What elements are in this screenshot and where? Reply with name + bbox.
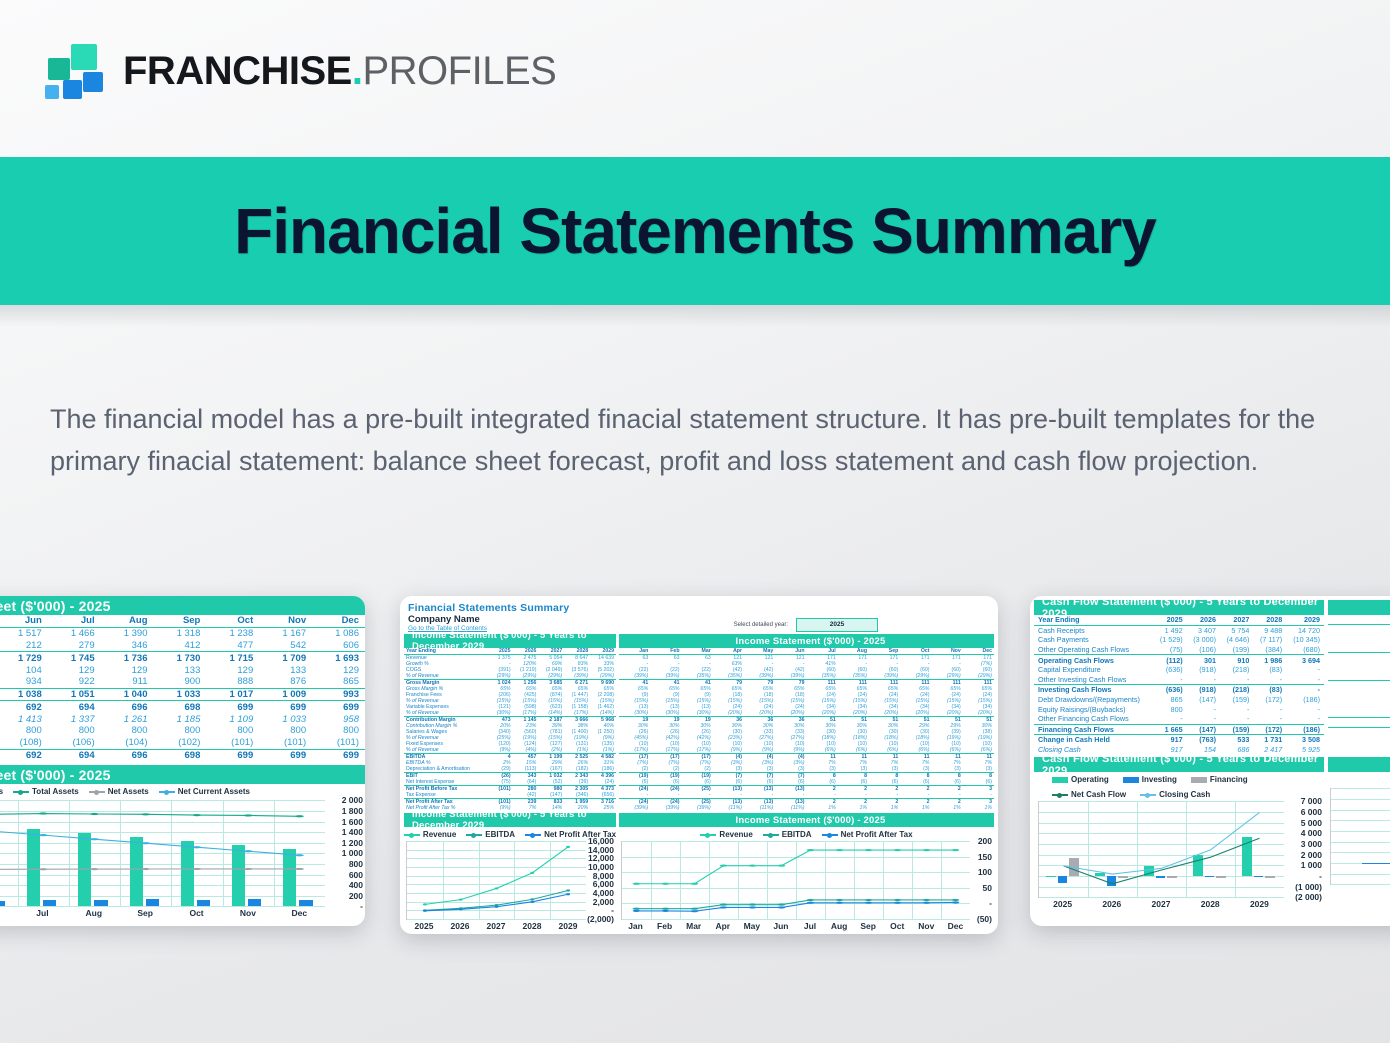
is-month-value: 1% <box>869 805 900 811</box>
bs-value: 279 <box>48 640 101 652</box>
cf-year-value: 3 407 <box>1187 625 1220 635</box>
legend-swatch-icon <box>1191 777 1207 783</box>
chart-marker <box>749 865 757 867</box>
chart-marker <box>720 865 728 867</box>
cf-year-value: - <box>1187 675 1220 685</box>
banner-shadow <box>0 305 1390 327</box>
legend-label: Net Cash Flow <box>1071 790 1126 799</box>
is-5yr-table-title: Income Statement ($'000) - 5 Years to De… <box>404 634 616 648</box>
chart-marker <box>633 910 641 912</box>
is-month-value: (39%) <box>650 805 681 811</box>
balance-sheet-screenshot[interactable]: Balance Sheet ($'000) - 2025 May Jun Jul… <box>0 596 365 926</box>
x-axis-tick: 2025 <box>1038 899 1087 909</box>
row-label: Other Operating Cash Flows <box>1034 645 1153 655</box>
table-row: 101104129129133129133129 <box>0 664 365 676</box>
balance-sheet-chart: 2 0001 8001 6001 4001 2001 0008006004002… <box>0 800 365 926</box>
chart-marker <box>141 868 150 870</box>
bs-value: 1 390 <box>101 627 154 639</box>
legend-label: Revenue <box>423 830 456 839</box>
table-row: 703692694696698699699699 <box>0 749 365 761</box>
chart-marker <box>865 902 873 904</box>
is-2025-chart: 20015010050-(50)JanFebMarAprMayJunJulAug… <box>619 841 994 934</box>
is-5yr-chart: 16,00014,00012,00010,0008,0006,0004,0002… <box>404 841 616 934</box>
x-axis-tick: 2027 <box>478 921 514 931</box>
cf-year-value: - <box>1253 714 1286 724</box>
is-month-value: 1% <box>807 805 838 811</box>
cash-flow-screenshot[interactable]: Cash Flow Statement ($'000) - 5 Years to… <box>1030 596 1390 926</box>
cf-year-value: (83) <box>1253 665 1286 675</box>
bs-value: 1 261 <box>101 713 154 725</box>
chart-marker <box>807 902 815 904</box>
x-axis-tick: Dec <box>941 921 970 931</box>
y-axis-tick: 1 800 <box>323 806 363 816</box>
legend-swatch-icon <box>1123 777 1139 783</box>
bs-value: 800 <box>101 725 154 737</box>
year-selector[interactable]: Select detailed year: 2025 <box>734 618 878 632</box>
chart-lines <box>1331 788 1390 884</box>
cf-year-value: (1 529) <box>1153 635 1186 645</box>
cf-jan-value: - <box>1328 708 1390 718</box>
chart-line <box>637 902 956 911</box>
chart-lines <box>0 800 325 906</box>
bs-value: 1 709 <box>259 652 312 664</box>
y-axis-tick: 1 000 <box>1282 860 1322 870</box>
y-axis-tick: 200 <box>323 891 363 901</box>
y-axis-tick: 150 <box>968 852 992 862</box>
legend-swatch-icon <box>822 834 838 836</box>
legend-label: Closing Cash <box>1159 790 1210 799</box>
legend-item: Operating <box>1052 775 1109 784</box>
legend-item: EBITDA <box>763 830 812 839</box>
cf-year-value: 1 731 <box>1253 735 1286 745</box>
bs-value: 542 <box>259 640 312 652</box>
chart-marker <box>566 889 570 891</box>
legend-swatch-icon <box>1052 777 1068 783</box>
legend-swatch-icon <box>404 834 420 836</box>
y-axis-tick: (1 000) <box>1282 882 1322 892</box>
cf-table-title: Cash Flow Statement ($'000) - 5 Years to… <box>1034 600 1324 615</box>
table-row: (22) <box>1328 653 1390 663</box>
x-axis: JanFebMarAprMayJunJulAugSepOctNovDec <box>621 921 970 931</box>
x-axis-tick: Nov <box>912 921 941 931</box>
chart-marker <box>865 899 873 901</box>
x-axis-tick: Aug <box>825 921 854 931</box>
is-2025-table-title: Income Statement ($'000) - 2025 <box>619 634 994 648</box>
cf-year-value: - <box>1286 665 1324 675</box>
legend-label: EBITDA <box>782 830 812 839</box>
cf-year-value: (7 117) <box>1253 635 1286 645</box>
chart-marker <box>720 906 728 908</box>
row-label: Equity Raisings/(Buybacks) <box>1034 704 1153 714</box>
legend-item: EBITDA <box>466 830 515 839</box>
chart-marker <box>530 898 534 900</box>
x-axis-tick: Aug <box>68 908 119 918</box>
chart-marker <box>90 838 99 840</box>
cf-year-value: - <box>1153 675 1186 685</box>
x-axis-tick: 2025 <box>406 921 442 931</box>
x-axis-tick: Feb <box>650 921 679 931</box>
cf-year-value: (159) <box>1220 695 1253 705</box>
bs-value: 692 <box>0 749 48 761</box>
cash-flow-jan-table: Jan 32(47)(7)(22)(36)-(36)989800-1 7891 … <box>1328 615 1390 746</box>
chart-marker <box>923 899 931 901</box>
x-axis: MayJunJulAugSepOctNovDec <box>0 908 325 918</box>
cf-side-chart-title <box>1328 757 1390 772</box>
y-axis-tick: 100 <box>968 867 992 877</box>
cf-jan-value: (36) <box>1328 662 1390 671</box>
is-2025-chart-legend: RevenueEBITDANet Profit After Tax <box>619 827 994 841</box>
legend-item: Total Assets <box>13 787 79 796</box>
y-axis-tick: (2 000) <box>1282 892 1322 902</box>
legend-label: Financing <box>1210 775 1248 784</box>
cf-jan-value: (7) <box>1328 643 1390 653</box>
chart-marker <box>952 849 960 851</box>
year-selector-input[interactable]: 2025 <box>796 618 878 632</box>
y-axis-tick: 1 000 <box>323 848 363 858</box>
is-month-value: 1% <box>838 805 869 811</box>
x-axis-tick: May <box>737 921 766 931</box>
table-row: Operating Cash Flows(112)3019101 9863 69… <box>1034 655 1324 665</box>
x-axis-tick: Mar <box>679 921 708 931</box>
x-axis-tick: Jan <box>621 921 650 931</box>
cf-year-value: 800 <box>1153 704 1186 714</box>
table-row: 32 <box>1328 625 1390 635</box>
gridline <box>1039 897 1284 898</box>
x-axis-tick: Jul <box>795 921 824 931</box>
cf-year-value: (3 000) <box>1187 635 1220 645</box>
bs-value: 212 <box>0 640 48 652</box>
income-statement-screenshot[interactable]: Financial Statements Summary Company Nam… <box>400 596 998 934</box>
chart-marker <box>633 883 641 885</box>
bs-value: 699 <box>312 749 365 761</box>
cf-year-value: (636) <box>1153 685 1186 695</box>
description-paragraph: The financial model has a pre-built inte… <box>50 398 1340 482</box>
bs-value: (108) <box>0 737 48 749</box>
bs-value: 1 038 <box>0 688 48 701</box>
chart-marker <box>423 903 427 905</box>
bs-value: 1 318 <box>154 627 207 639</box>
chart-line <box>1064 813 1260 875</box>
y-axis-tick: 1 600 <box>323 817 363 827</box>
cf-jan-value: 1 789 <box>1328 718 1390 728</box>
legend-label: EBITDA <box>485 830 515 839</box>
chart-marker <box>39 834 48 836</box>
legend-label: Total Assets <box>32 787 79 796</box>
gridline <box>407 919 586 920</box>
legend-item: Closing Cash <box>1140 790 1210 799</box>
legend-item: Financing <box>1191 775 1248 784</box>
bs-value: 800 <box>0 725 48 737</box>
y-axis-tick: - <box>323 901 363 911</box>
chart-lines <box>407 841 586 919</box>
cf-year-value: (918) <box>1187 685 1220 695</box>
chart-marker <box>141 842 150 844</box>
y-axis-tick: (50) <box>968 914 992 924</box>
bs-value: 911 <box>101 676 154 688</box>
cf-year-value: - <box>1286 714 1324 724</box>
table-row: Debt Drawdowns/(Repayments)865(147)(159)… <box>1034 695 1324 705</box>
chart-marker <box>720 904 728 906</box>
table-row: Cash Payments(1 529)(3 000)(4 646)(7 117… <box>1034 635 1324 645</box>
bs-value: 800 <box>312 725 365 737</box>
chart-lines <box>1039 801 1284 897</box>
bs-value: 1 715 <box>206 652 259 664</box>
x-axis-tick: 2028 <box>1186 899 1235 909</box>
y-axis-tick: 3 000 <box>1282 839 1322 849</box>
row-label: Other Financing Cash Flows <box>1034 714 1153 724</box>
is-month-value: (11%) <box>713 805 744 811</box>
cf-year-value: 910 <box>1220 655 1253 665</box>
chart-marker <box>749 904 757 906</box>
cf-year-value: (636) <box>1153 665 1186 675</box>
legend-item: Revenue <box>700 830 752 839</box>
table-row: Other Operating Cash Flows(75)(106)(199)… <box>1034 645 1324 655</box>
legend-label: Operating <box>1071 775 1109 784</box>
bs-value: 133 <box>259 664 312 676</box>
x-axis-tick: 2026 <box>442 921 478 931</box>
is-month-value: (11%) <box>775 805 806 811</box>
y-axis-tick: 800 <box>323 859 363 869</box>
bs-value: 129 <box>312 664 365 676</box>
table-row: Capital Expenditure(636)(918)(218)(83)- <box>1034 665 1324 675</box>
chart-marker <box>530 872 534 874</box>
chart-marker <box>295 855 304 857</box>
bs-value: 1 040 <box>101 688 154 701</box>
col-oct: Oct <box>206 615 259 627</box>
bs-value: 934 <box>0 676 48 688</box>
col-nov: Nov <box>259 615 312 627</box>
chart-marker <box>90 868 99 870</box>
bs-value: 1 693 <box>312 652 365 664</box>
bs-value: 696 <box>101 701 154 713</box>
bs-value: 698 <box>154 701 207 713</box>
cf-year-value: - <box>1220 714 1253 724</box>
bs-value: (106) <box>48 737 101 749</box>
cash-flow-jan-chart: 7 0006 0005 0004 0003 0002 0001 000-(1 0… <box>1328 788 1390 916</box>
chart-marker <box>39 868 48 870</box>
table-row: 800800800800800800800800 <box>0 725 365 737</box>
chart-marker <box>295 816 304 818</box>
cf-year-value: - <box>1187 714 1220 724</box>
cf-side-table-title <box>1328 600 1390 615</box>
table-row: Financing Cash Flows1 665(147)(159)(172)… <box>1034 724 1324 735</box>
legend-item: Revenue <box>404 830 456 839</box>
bs-value: 699 <box>259 749 312 761</box>
chart-marker <box>894 849 902 851</box>
chart-marker <box>807 899 815 901</box>
chart-marker <box>495 906 499 908</box>
cf-year-value: - <box>1286 675 1324 685</box>
row-label: Operating Cash Flows <box>1034 655 1153 665</box>
table-row: Depreciation & Amortisation(29)(113)(167… <box>404 766 616 773</box>
bs-value: (102) <box>154 737 207 749</box>
table-row: % of Revenue(30%)(17%)(14%)(17%)(14%) <box>404 710 616 717</box>
col-sep: Sep <box>154 615 207 627</box>
balance-sheet-chart-legend: Current LiabilitiesTotal AssetsNet Asset… <box>0 784 365 798</box>
table-row: Other Financing Cash Flows----- <box>1034 714 1324 724</box>
chart-marker <box>633 908 641 910</box>
row-label: Other Investing Cash Flows <box>1034 675 1153 685</box>
bs-value: 699 <box>312 701 365 713</box>
chart-line <box>637 900 956 909</box>
table-row: Cash Receipts1 4923 4075 7549 48814 720 <box>1034 625 1324 635</box>
chart-plot-area <box>406 841 586 920</box>
y-axis-tick: (2,000) <box>584 914 614 924</box>
bs-value: 699 <box>206 701 259 713</box>
x-axis-tick: 2029 <box>1235 899 1284 909</box>
company-name: Company Name <box>408 614 990 625</box>
is-month-value: 1% <box>963 805 994 811</box>
cf-year-value: (218) <box>1220 685 1253 695</box>
chart-marker <box>90 813 99 815</box>
gridline <box>1331 884 1390 885</box>
legend-swatch-icon <box>700 834 716 836</box>
bs-value: (101) <box>312 737 365 749</box>
bs-value: 900 <box>154 676 207 688</box>
cf-year-value: 301 <box>1187 655 1220 665</box>
title-banner: Financial Statements Summary <box>0 157 1390 305</box>
y-axis-tick: 6 000 <box>1282 807 1322 817</box>
bs-value: 346 <box>101 640 154 652</box>
is-month-value: (39%) <box>619 805 650 811</box>
bs-value: 1 185 <box>154 713 207 725</box>
cf-year-value: (918) <box>1187 665 1220 675</box>
legend-swatch-icon <box>466 834 482 836</box>
is-5yr-chart-title: Income Statement ($'000) - 5 Years to De… <box>404 813 616 827</box>
chart-marker <box>836 902 844 904</box>
cf-year-value: 917 <box>1153 735 1186 745</box>
y-axis-tick: 5 000 <box>1282 818 1322 828</box>
chart-marker <box>807 849 815 851</box>
table-row: Tax Expense-(42)(147)(346)(656) <box>404 792 616 799</box>
bs-value: 958 <box>312 713 365 725</box>
legend-label: Net Current Assets <box>178 787 250 796</box>
is-2025-chart-title: Income Statement ($'000) - 2025 <box>619 813 994 827</box>
table-row: Change in Cash Held917(763)5331 7313 508 <box>1034 735 1324 745</box>
page-title: Financial Statements Summary <box>234 194 1156 268</box>
y-axis-tick: 2 000 <box>323 795 363 805</box>
table-row: 945934922911900888876865 <box>0 676 365 688</box>
cf-jan-value: (36) <box>1328 681 1390 691</box>
year-selector-label: Select detailed year: <box>734 622 788 628</box>
chart-plot-area <box>1038 801 1284 898</box>
cf-year-value: (147) <box>1187 724 1220 735</box>
table-row: Equity Raisings/(Buybacks)800---- <box>1034 704 1324 714</box>
row-label: Cash Payments <box>1034 635 1153 645</box>
chart-lines <box>622 841 970 919</box>
cf-year-value: (680) <box>1286 645 1324 655</box>
chart-marker <box>836 899 844 901</box>
cf-year-value: (763) <box>1187 735 1220 745</box>
bs-value: 1 413 <box>0 713 48 725</box>
x-axis-tick: Jan <box>1330 886 1390 896</box>
table-row: Net Interest Expense(75)(64)(52)(39)(24) <box>404 779 616 786</box>
chart-marker <box>778 906 786 908</box>
cf-year-value: - <box>1253 704 1286 714</box>
y-axis-tick: 200 <box>968 836 992 846</box>
bs-value: 1 730 <box>154 652 207 664</box>
table-row: Investing Cash Flows(636)(918)(218)(83)- <box>1034 685 1324 695</box>
cf-year-value: - <box>1253 675 1286 685</box>
cf-year-value: (199) <box>1220 645 1253 655</box>
chart-marker <box>662 908 670 910</box>
cf-year-value: (159) <box>1220 724 1253 735</box>
chart-marker <box>495 887 499 889</box>
chart-plot-area <box>1330 788 1390 885</box>
y-axis-tick: 50 <box>968 883 992 893</box>
legend-item: Current Liabilities <box>0 787 3 796</box>
chart-marker <box>244 851 253 853</box>
table-row: - <box>1328 708 1390 718</box>
table-row: 989 <box>1328 690 1390 699</box>
cf-year-value: 1 492 <box>1153 625 1186 635</box>
table-header-row: May Jun Jul Aug Sep Oct Nov Dec <box>0 615 365 627</box>
chart-marker <box>244 868 253 870</box>
cf-year-value: - <box>1286 685 1324 695</box>
chart-marker <box>530 901 534 903</box>
x-axis-tick: Jun <box>0 908 17 918</box>
chart-marker <box>952 901 960 903</box>
bs-value: 876 <box>259 676 312 688</box>
chart-line <box>1064 839 1260 885</box>
chart-marker <box>566 846 570 848</box>
cf-year-value: (172) <box>1253 695 1286 705</box>
legend-item: Net Profit After Tax <box>822 830 913 839</box>
cf-year-value: (75) <box>1153 645 1186 655</box>
cf-jan-value: 1 731 <box>1328 737 1390 746</box>
bs-value: 1 238 <box>206 627 259 639</box>
bs-value: 133 <box>154 664 207 676</box>
table-row: 1 0451 0381 0511 0401 0331 0171 009993 <box>0 688 365 701</box>
col-jul: Jul <box>48 615 101 627</box>
bs-value: 865 <box>312 676 365 688</box>
is-month-value: (39%) <box>682 805 713 811</box>
bs-value: 1 109 <box>206 713 259 725</box>
row-label: Financing Cash Flows <box>1034 724 1153 735</box>
cf-year-value: 3 694 <box>1286 655 1324 665</box>
cf-year-value: (186) <box>1286 695 1324 705</box>
table-row: (47) <box>1328 634 1390 643</box>
chart-plot-area <box>621 841 970 920</box>
bs-value: 694 <box>48 701 101 713</box>
row-label: Cash Receipts <box>1034 625 1153 635</box>
cf-year-value: 14 720 <box>1286 625 1324 635</box>
cf-jan-value: 1 731 <box>1328 728 1390 738</box>
bs-value: 129 <box>101 664 154 676</box>
legend-item: Investing <box>1123 775 1177 784</box>
x-axis-tick: 2026 <box>1087 899 1136 909</box>
cash-flow-table: Year Ending 2025 2026 2027 2028 2029 Cas… <box>1034 615 1324 754</box>
chart-plot-area <box>0 800 325 907</box>
legend-item: Net Current Assets <box>159 787 250 796</box>
legend-swatch-icon <box>159 791 175 793</box>
bs-value: 129 <box>48 664 101 676</box>
chart-marker <box>778 865 786 867</box>
table-row: - <box>1328 671 1390 681</box>
cf-year-value: - <box>1220 704 1253 714</box>
gridline <box>0 906 325 907</box>
x-axis: 20252026202720282029 <box>406 921 586 931</box>
chart-marker <box>865 849 873 851</box>
bs-value: 1 337 <box>48 713 101 725</box>
cf-jan-value: 32 <box>1328 625 1390 635</box>
table-row: 1 731 <box>1328 737 1390 746</box>
x-axis-tick: Nov <box>222 908 273 918</box>
legend-label: Net Assets <box>108 787 149 796</box>
is-2025-table: JanFebMarAprMayJunJulAugSepOctNovDec 636… <box>619 648 994 811</box>
cf-year-value: 533 <box>1220 735 1253 745</box>
row-label: Change in Cash Held <box>1034 735 1153 745</box>
